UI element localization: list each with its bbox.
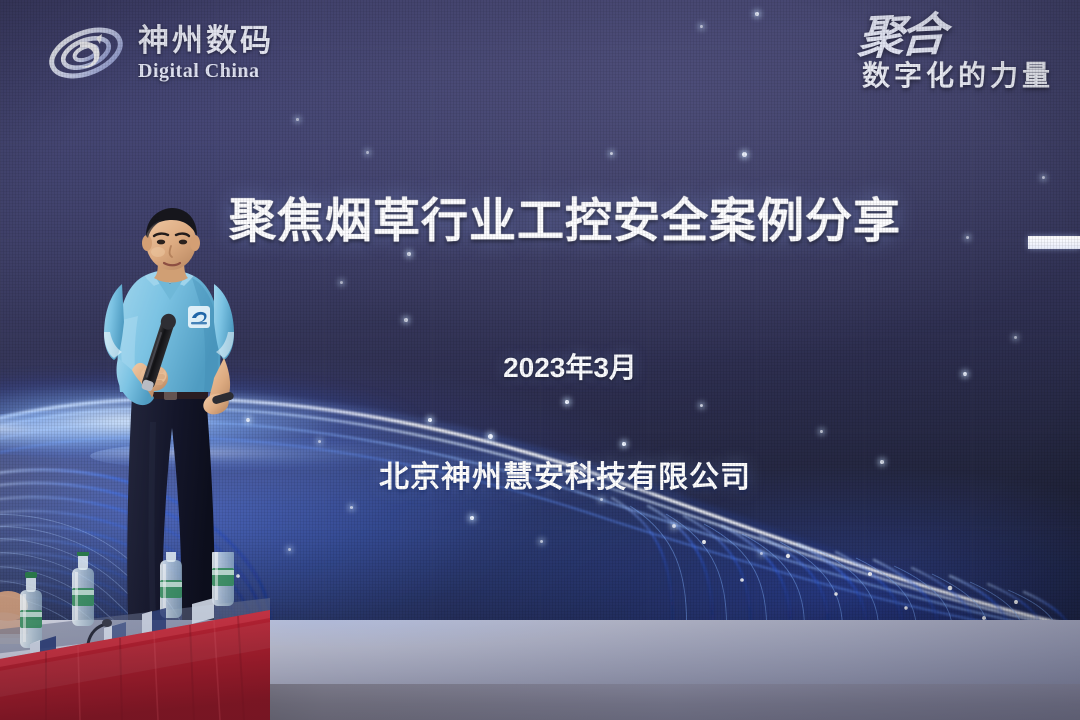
conference-stage-photo: 聚焦烟草行业工控安全案例分享 2023年3月 北京神州慧安科技有限公司 <box>0 0 1080 720</box>
chest-logo-patch-icon <box>188 306 210 328</box>
head-table <box>0 552 270 720</box>
